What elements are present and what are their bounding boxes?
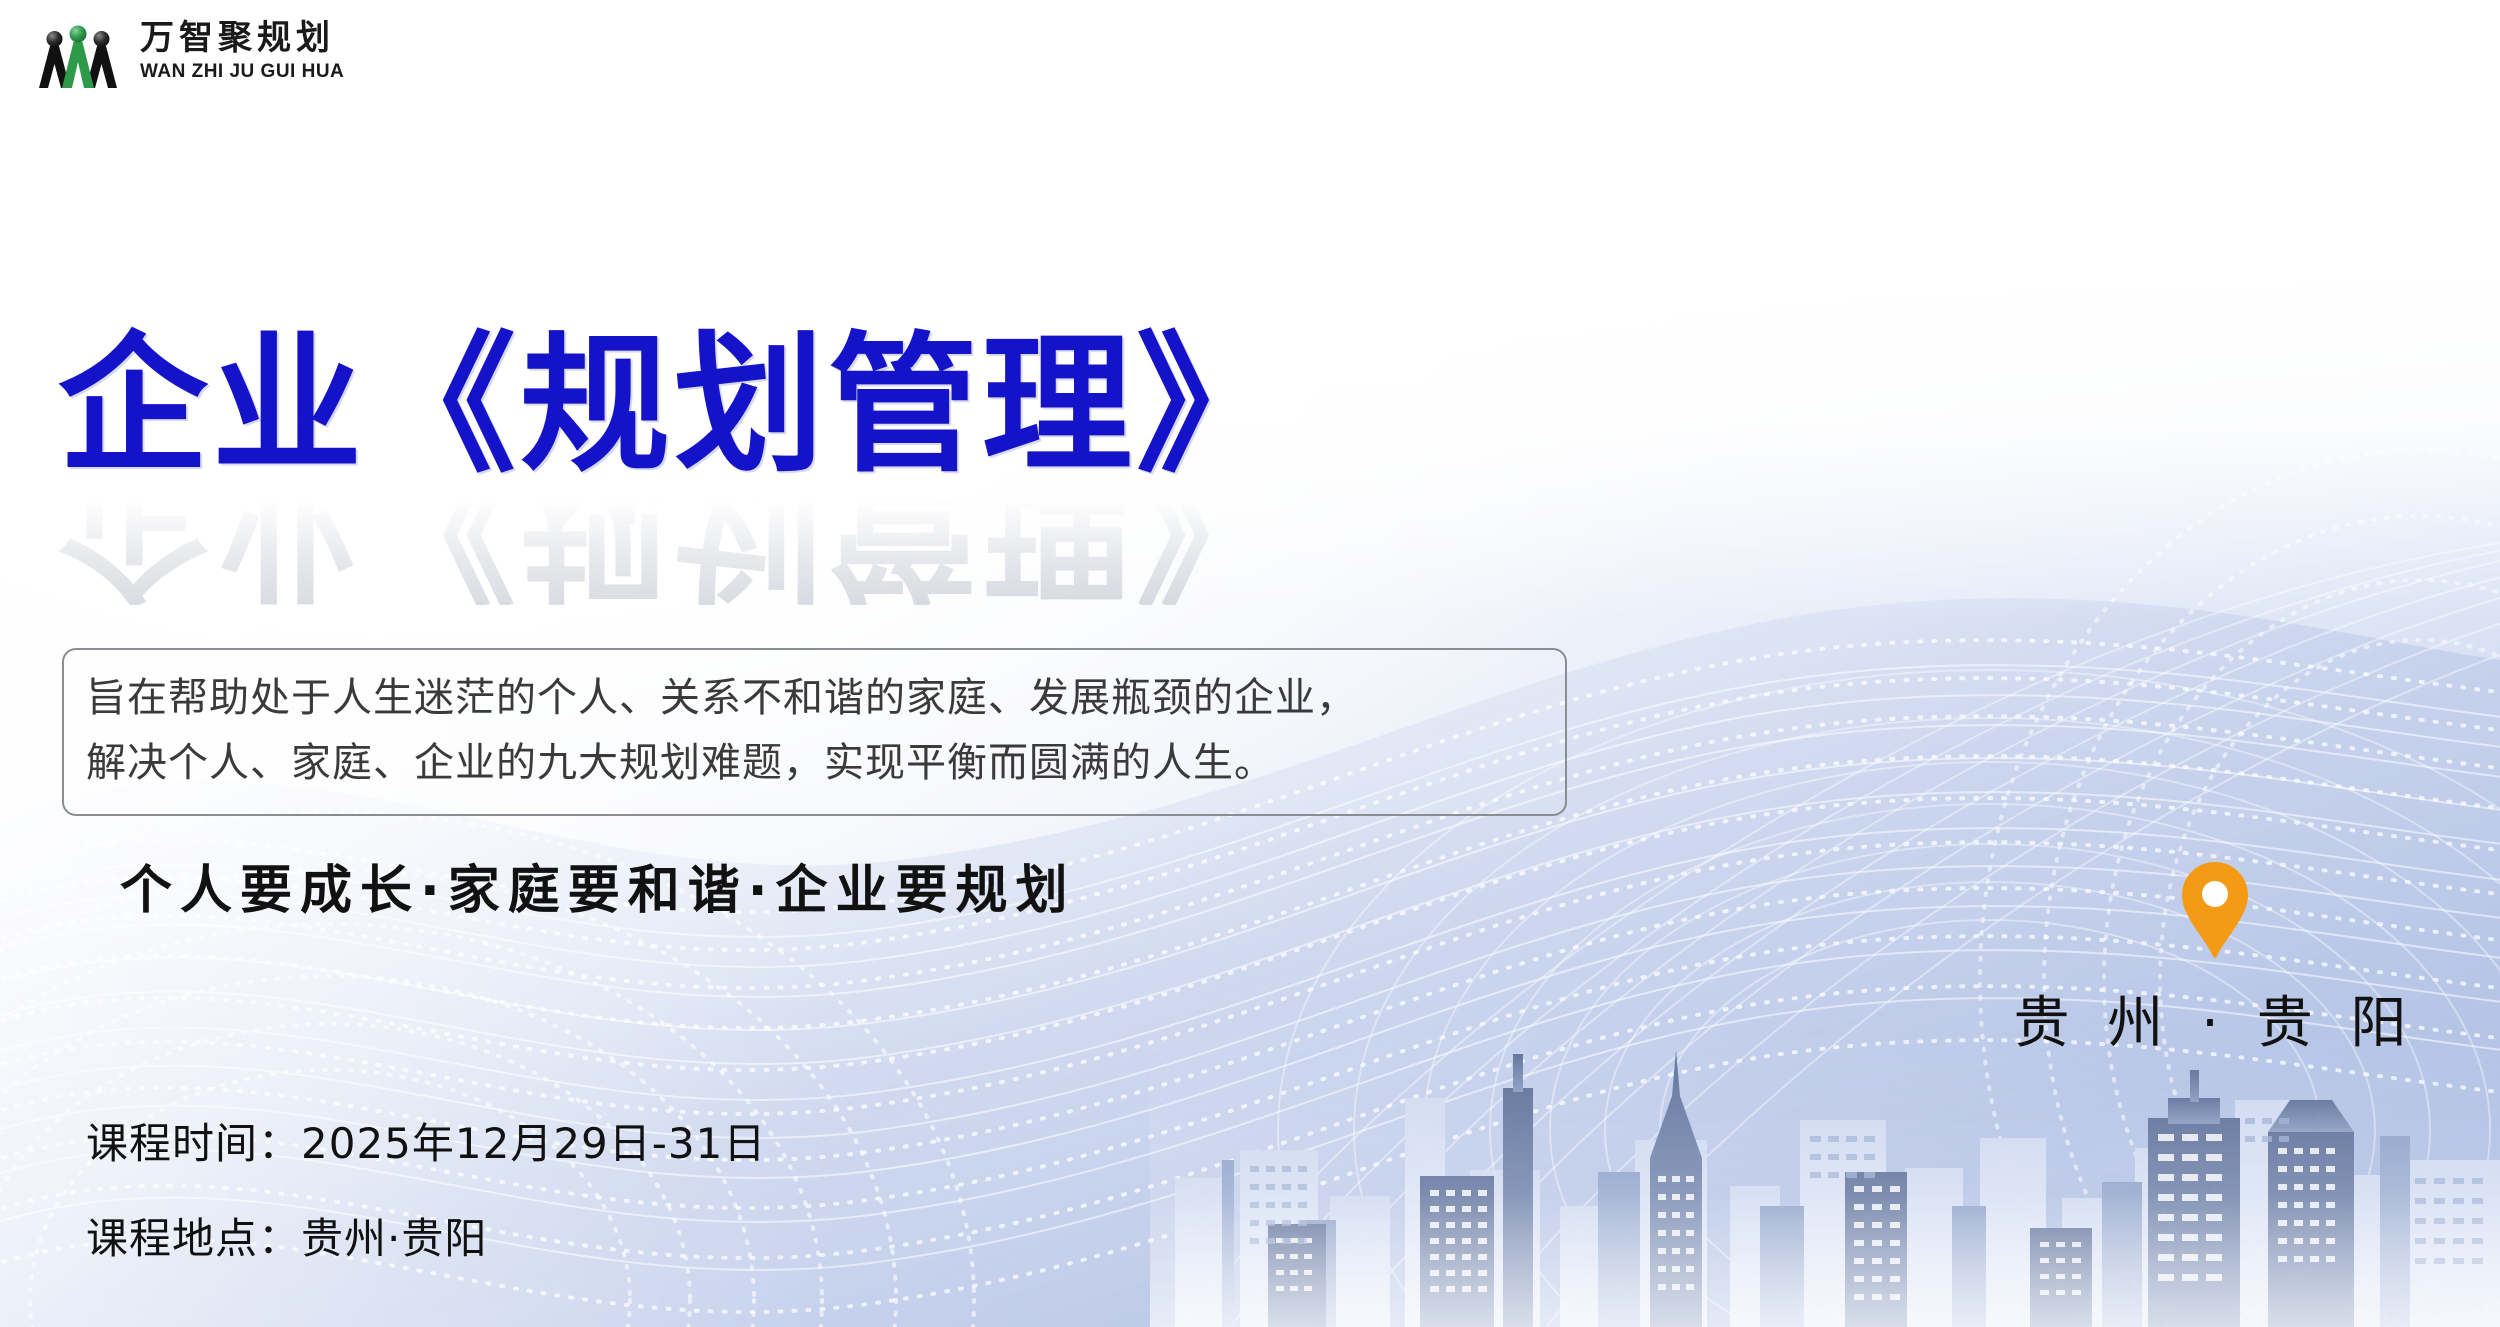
page-title: 企业《规划管理》 xyxy=(58,330,1290,483)
slogan-text: 个人要成长·家庭要和谐·企业要规划 xyxy=(120,848,1076,923)
location-block: 贵 州 · 贵 阳 xyxy=(1955,860,2475,1059)
brand-logo: 万智聚规划 WAN ZHI JU GUI HUA xyxy=(30,14,344,88)
poster-canvas: 万智聚规划 WAN ZHI JU GUI HUA 企业《规划管理》 企业《规划管… xyxy=(0,0,2500,1327)
brand-logo-text: 万智聚规划 WAN ZHI JU GUI HUA xyxy=(140,21,344,81)
description-line-1: 旨在帮助处于人生迷茫的个人、关系不和谐的家庭、发展瓶颈的企业， xyxy=(86,666,1543,731)
hero-title-block: 企业《规划管理》 企业《规划管理》 xyxy=(58,330,1290,605)
location-city: 贵 州 · 贵 阳 xyxy=(1955,978,2475,1059)
brand-name-pinyin: WAN ZHI JU GUI HUA xyxy=(140,62,344,81)
description-box: 旨在帮助处于人生迷茫的个人、关系不和谐的家庭、发展瓶颈的企业， 解决个人、家庭、… xyxy=(62,648,1567,816)
map-pin-icon xyxy=(2177,860,2253,960)
description-line-2: 解决个人、家庭、企业的九大规划难题，实现平衡而圆满的人生。 xyxy=(86,731,1543,796)
course-place: 课程地点：贵州·贵阳 xyxy=(86,1205,766,1266)
three-people-logo-icon xyxy=(30,14,126,88)
course-time: 课程时间：2025年12月29日-31日 xyxy=(86,1110,766,1171)
page-title-reflection: 企业《规划管理》 xyxy=(58,485,1290,605)
course-info-block: 课程时间：2025年12月29日-31日 课程地点：贵州·贵阳 xyxy=(86,1110,766,1266)
brand-name-cn: 万智聚规划 xyxy=(140,21,344,55)
